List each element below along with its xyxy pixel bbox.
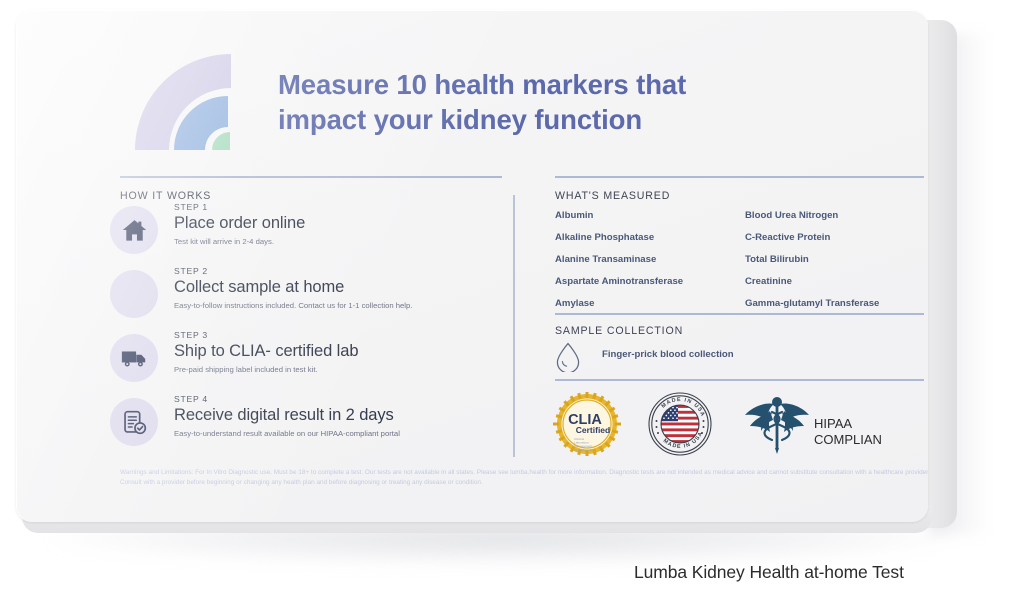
step-title: Ship to CLIA- certified lab xyxy=(174,341,474,362)
made-in-usa-badge: MADE IN USA MADE IN USA xyxy=(647,391,713,457)
how-it-works-label: HOW IT WORKS xyxy=(120,190,211,202)
box-front-content: Measure 10 health markers that impact yo… xyxy=(16,10,928,522)
marker-item: Aspartate Aminotransferase xyxy=(555,276,683,287)
step-subtitle: Pre-paid shipping label included in test… xyxy=(174,365,474,375)
step-subtitle: Easy-to-follow instructions included. Co… xyxy=(174,301,474,311)
certification-badges: CLIA Certified Clinical Laboratory Impro… xyxy=(552,391,882,457)
how-it-works-rule xyxy=(120,176,502,178)
step-number: STEP 3 xyxy=(174,330,474,340)
disclaimer-text: Warnings and Limitations: For In Vitro D… xyxy=(120,468,928,489)
sample-collection-method: Finger-prick blood collection xyxy=(602,349,734,360)
headline-line-1: Measure 10 health markers that xyxy=(278,68,798,103)
blood-drop-icon xyxy=(555,342,581,372)
marker-item: Alanine Transaminase xyxy=(555,254,656,265)
step-text: STEP 4 Receive digital result in 2 days … xyxy=(174,394,474,438)
hipaa-line1: HIPAA xyxy=(814,416,852,431)
document-check-icon xyxy=(121,409,148,436)
product-caption: Lumba Kidney Health at-home Test xyxy=(634,562,904,583)
marker-item: Total Bilirubin xyxy=(745,254,809,265)
hipaa-line2: COMPLIANT xyxy=(814,432,882,447)
svg-text:Amendments: Amendments xyxy=(574,448,593,452)
step-subtitle: Test kit will arrive in 2-4 days. xyxy=(174,237,474,247)
step-text: STEP 1 Place order online Test kit will … xyxy=(174,202,474,246)
step-text: STEP 3 Ship to CLIA- certified lab Pre-p… xyxy=(174,330,474,374)
step-text: STEP 2 Collect sample at home Easy-to-fo… xyxy=(174,266,474,310)
marker-item: Blood Urea Nitrogen xyxy=(745,210,838,221)
step-subtitle: Easy-to-understand result available on o… xyxy=(174,429,474,439)
truck-icon xyxy=(120,344,148,372)
step-icon-circle xyxy=(110,334,158,382)
step-number: STEP 4 xyxy=(174,394,474,404)
step-item: STEP 4 Receive digital result in 2 days … xyxy=(110,398,450,446)
step-item: STEP 1 Place order online Test kit will … xyxy=(110,206,450,254)
step-item: STEP 3 Ship to CLIA- certified lab Pre-p… xyxy=(110,334,450,382)
house-icon xyxy=(121,217,148,244)
header: Measure 10 health markers that impact yo… xyxy=(16,10,928,150)
step-icon-circle xyxy=(110,398,158,446)
clia-seal-icon: CLIA Certified Clinical Laboratory Impro… xyxy=(552,391,622,457)
hipaa-compliant-badge: HIPAA COMPLIANT xyxy=(742,391,882,457)
marker-item: C-Reactive Protein xyxy=(745,232,830,243)
step-title: Collect sample at home xyxy=(174,277,474,298)
step-item: STEP 2 Collect sample at home Easy-to-fo… xyxy=(110,270,450,318)
rainbow-arc-logo xyxy=(121,32,251,150)
marker-item: Albumin xyxy=(555,210,593,221)
column-divider xyxy=(513,195,515,457)
whats-measured-label: WHAT'S MEASURED xyxy=(555,190,670,202)
blank-icon xyxy=(121,281,148,308)
sample-collection-label: SAMPLE COLLECTION xyxy=(555,325,683,337)
headline-line-2: impact your kidney function xyxy=(278,103,798,138)
badges-top-rule xyxy=(555,379,924,381)
step-number: STEP 1 xyxy=(174,202,474,212)
marker-item: Gamma-glutamyl Transferase xyxy=(745,298,879,309)
step-icon-circle xyxy=(110,270,158,318)
marker-item: Amylase xyxy=(555,298,594,309)
page-title: Measure 10 health markers that impact yo… xyxy=(278,68,798,138)
svg-text:Certified: Certified xyxy=(576,425,610,435)
caduceus-icon: HIPAA COMPLIANT xyxy=(742,391,882,457)
usa-flag-seal-icon: MADE IN USA MADE IN USA xyxy=(647,391,713,457)
whats-measured-rule xyxy=(555,176,924,178)
product-box-scene: Measure 10 health markers that impact yo… xyxy=(0,0,1024,598)
step-title: Place order online xyxy=(174,213,474,234)
marker-item: Creatinine xyxy=(745,276,792,287)
step-title: Receive digital result in 2 days xyxy=(174,405,474,426)
marker-item: Alkaline Phosphatase xyxy=(555,232,654,243)
sample-collection-rule xyxy=(555,313,924,315)
clia-certified-badge: CLIA Certified Clinical Laboratory Impro… xyxy=(552,391,622,457)
step-icon-circle xyxy=(110,206,158,254)
step-number: STEP 2 xyxy=(174,266,474,276)
